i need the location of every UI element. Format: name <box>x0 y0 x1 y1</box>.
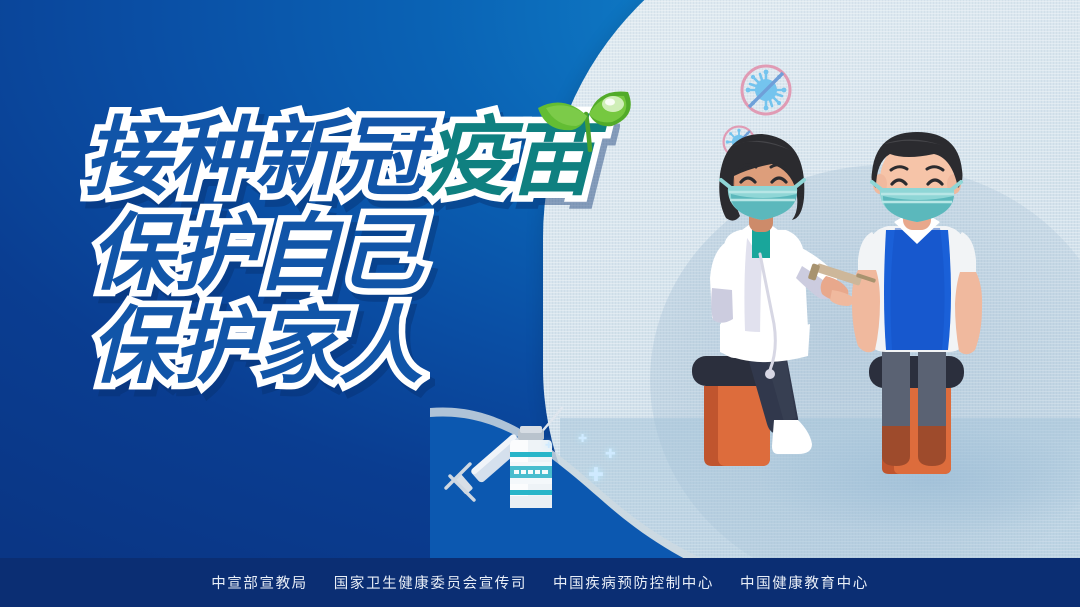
headline-line-3-text: 保护家人 <box>90 305 422 387</box>
doctor-figure <box>692 134 876 466</box>
vaccination-illustration <box>686 118 1016 508</box>
sparkle-icon: ✚ <box>578 432 587 445</box>
vaccination-poster: 接种新冠疫苗 保护自己 保护家人 <box>0 0 1080 607</box>
footer-org-0: 中宣部宣教局 <box>211 572 308 593</box>
headline-line-3: 保护家人 <box>90 305 594 387</box>
sparkle-icon: ✚ <box>605 446 616 462</box>
vaccine-vial-group <box>444 404 644 544</box>
footer-organizations: 中宣部宣教局 国家卫生健康委员会宣传司 中国疾病预防控制中心 中国健康教育中心 <box>211 572 869 593</box>
footer-bar: 中宣部宣教局 国家卫生健康委员会宣传司 中国疾病预防控制中心 中国健康教育中心 <box>0 558 1080 607</box>
patient-figure <box>852 132 982 474</box>
headline-line-2: 保护自己 <box>90 212 594 294</box>
footer-org-3: 中国健康教育中心 <box>740 572 869 593</box>
sparkle-icon: ✚ <box>588 464 604 487</box>
headline-line-1-blue: 接种新冠 <box>84 116 424 200</box>
sprout-icon <box>524 82 654 152</box>
headline-block: 接种新冠疫苗 保护自己 保护家人 <box>84 116 594 387</box>
no-virus-icon <box>738 62 794 118</box>
footer-org-1: 国家卫生健康委员会宣传司 <box>334 572 527 593</box>
sparkle-icon: ✚ <box>545 440 553 451</box>
headline-line-2-text: 保护自己 <box>90 212 422 294</box>
footer-org-2: 中国疾病预防控制中心 <box>553 572 714 593</box>
headline-line-1: 接种新冠疫苗 <box>84 116 594 200</box>
